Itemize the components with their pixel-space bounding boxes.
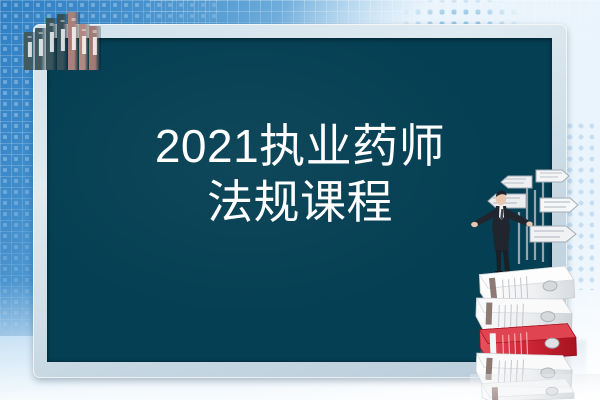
binder-3: [46, 18, 57, 70]
binder-ring: [49, 23, 54, 26]
binder-ring: [60, 20, 65, 23]
binder-label: [71, 27, 75, 50]
binder-5: [68, 12, 79, 70]
binder-ring: [38, 32, 43, 34]
binder-label: [60, 29, 64, 51]
binder-label: [92, 37, 96, 55]
binder-7: [89, 26, 100, 70]
binder-stack-illustration: [470, 168, 600, 400]
binder-ring: [82, 29, 86, 31]
binder-4: [57, 14, 68, 70]
binder-ring: [92, 30, 97, 32]
binder-ring: [71, 18, 76, 21]
binder-ring: [27, 36, 32, 38]
binder-label: [38, 39, 42, 56]
binder-2: [35, 28, 46, 70]
binder-1: [24, 32, 35, 70]
binder-label: [49, 32, 53, 53]
binder-label: [82, 36, 86, 54]
binder-label: [27, 42, 31, 57]
binder-row: [18, 8, 106, 70]
slide-canvas: 2021执业药师 法规课程: [0, 0, 600, 400]
binder-6: [79, 24, 89, 70]
